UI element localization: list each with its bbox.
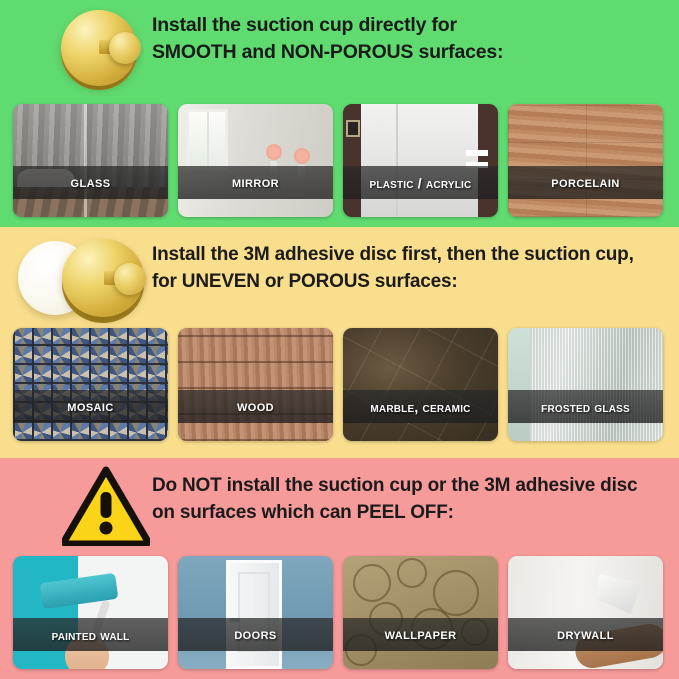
heading-line-2: for UNEVEN or POROUS surfaces: [152, 268, 677, 295]
surface-card-mosaic[interactable]: MOSAIC [13, 328, 168, 441]
surface-card-drywall[interactable]: DRYWALL [508, 556, 663, 669]
surface-card-label: DOORS [234, 626, 276, 644]
section-heading-smooth: Install the suction cup directly for SMO… [152, 12, 672, 66]
surface-card-label: WOOD [237, 398, 274, 416]
card-label-strip: MOSAIC [13, 390, 168, 423]
card-label-strip: GLASS [13, 166, 168, 199]
surface-card-wallpaper[interactable]: WALLPAPER [343, 556, 498, 669]
surface-card-frosted-glass[interactable]: FROSTED GLASS [508, 328, 663, 441]
surface-card-label: PLASTIC / ACRYLIC [370, 175, 472, 191]
surface-card-label: MARBLE, CERAMIC [370, 399, 470, 415]
card-row-smooth: GLASS MIRROR [0, 104, 663, 217]
surface-card-label: GLASS [71, 174, 111, 192]
surface-card-label: PORCELAIN [551, 174, 619, 192]
painted-wall-photo [13, 556, 168, 669]
mirror-room-photo [178, 104, 333, 217]
section-smooth-surfaces: Install the suction cup directly for SMO… [0, 0, 679, 227]
surface-card-mirror[interactable]: MIRROR [178, 104, 333, 217]
card-row-do-not-install: PAINTED WALL DOORS [0, 556, 663, 669]
surface-card-porcelain[interactable]: PORCELAIN [508, 104, 663, 217]
surface-card-label: PAINTED WALL [52, 627, 130, 643]
card-label-strip: MIRROR [178, 166, 333, 199]
surface-card-glass[interactable]: GLASS [13, 104, 168, 217]
heading-line-2: on surfaces which can PEEL OFF: [152, 499, 677, 526]
heading-line-2: SMOOTH and NON-POROUS surfaces: [152, 39, 672, 66]
porcelain-tile-photo [508, 104, 663, 217]
frosted-glass-photo [508, 328, 663, 441]
section-do-not-install: Do NOT install the suction cup or the 3M… [0, 458, 679, 679]
surface-card-label: MOSAIC [67, 398, 113, 416]
section-header-smooth: Install the suction cup directly for SMO… [0, 0, 679, 100]
surface-card-label: FROSTED GLASS [541, 399, 630, 415]
card-label-strip: MARBLE, CERAMIC [343, 390, 498, 423]
section-heading-uneven: Install the 3M adhesive disc first, then… [152, 241, 677, 295]
surface-card-marble-ceramic[interactable]: MARBLE, CERAMIC [343, 328, 498, 441]
mosaic-tile-photo [13, 328, 168, 441]
drywall-photo [508, 556, 663, 669]
surface-card-wood[interactable]: WOOD [178, 328, 333, 441]
installation-surfaces-infographic: Install the suction cup directly for SMO… [0, 0, 679, 679]
heading-line-1: Install the 3M adhesive disc first, then… [152, 241, 677, 268]
card-label-strip: DOORS [178, 618, 333, 651]
card-label-strip: FROSTED GLASS [508, 390, 663, 423]
surface-card-doors[interactable]: DOORS [178, 556, 333, 669]
wallpaper-photo [343, 556, 498, 669]
surface-card-plastic-acrylic[interactable]: PLASTIC / ACRYLIC [343, 104, 498, 217]
section-heading-do-not-install: Do NOT install the suction cup or the 3M… [152, 472, 677, 526]
heading-line-1: Install the suction cup directly for [152, 12, 672, 39]
surface-card-label: DRYWALL [557, 626, 614, 644]
door-photo [178, 556, 333, 669]
card-label-strip: PAINTED WALL [13, 618, 168, 651]
gold-suction-cup-icon [55, 4, 150, 96]
card-label-strip: DRYWALL [508, 618, 663, 651]
glass-shower-photo [13, 104, 168, 217]
warning-triangle-icon [62, 466, 150, 546]
surface-card-label: WALLPAPER [385, 626, 457, 644]
section-header-do-not-install: Do NOT install the suction cup or the 3M… [0, 458, 679, 558]
surface-card-painted-wall[interactable]: PAINTED WALL [13, 556, 168, 669]
card-label-strip: PLASTIC / ACRYLIC [343, 166, 498, 199]
section-uneven-surfaces: Install the 3M adhesive disc first, then… [0, 227, 679, 458]
surface-card-label: MIRROR [232, 174, 279, 192]
heading-line-1: Do NOT install the suction cup or the 3M… [152, 472, 677, 499]
wood-planks-photo [178, 328, 333, 441]
marble-ceramic-photo [343, 328, 498, 441]
adhesive-disc-and-suction-cup-icon [18, 235, 158, 327]
card-label-strip: WOOD [178, 390, 333, 423]
plastic-acrylic-shower-photo [343, 104, 498, 217]
section-header-uneven: Install the 3M adhesive disc first, then… [0, 227, 679, 327]
card-label-strip: PORCELAIN [508, 166, 663, 199]
card-row-uneven: MOSAIC WOOD MARBLE, CERAMIC FROSTED GLAS… [0, 328, 663, 441]
card-label-strip: WALLPAPER [343, 618, 498, 651]
